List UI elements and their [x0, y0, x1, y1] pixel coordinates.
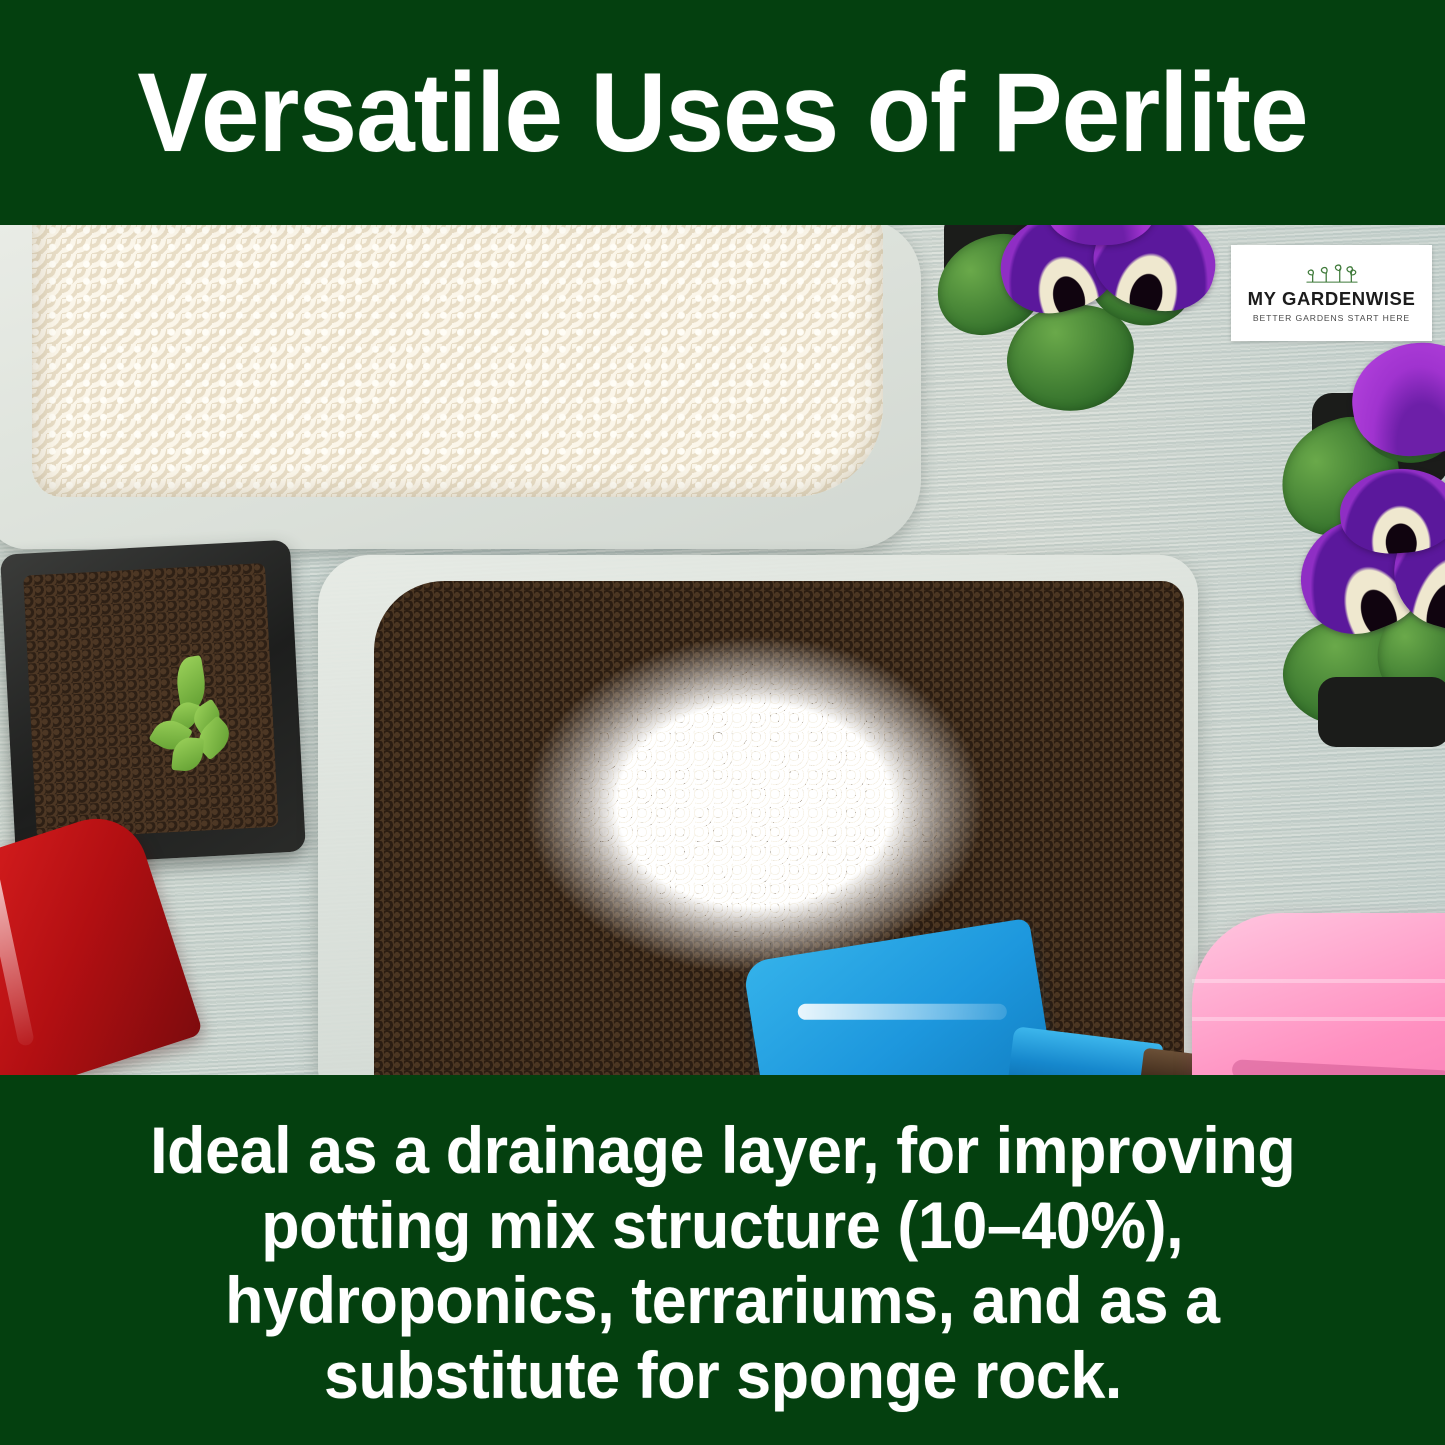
caption-line-2: potting mix structure (10–40%),	[262, 1188, 1184, 1263]
brand-name: MY GARDENWISE	[1248, 290, 1416, 309]
tray-soil	[23, 563, 278, 839]
pansy-flower	[1300, 475, 1445, 645]
header-band: Versatile Uses of Perlite	[0, 0, 1445, 225]
caption-band: Ideal as a drainage layer, for improving…	[0, 1075, 1445, 1445]
caption-line-4: substitute for sponge rock.	[324, 1338, 1122, 1413]
sprout-icon	[1303, 263, 1361, 287]
brand-tagline: BETTER GARDENS START HERE	[1253, 314, 1410, 323]
trowel-neck	[1007, 1026, 1164, 1075]
brand-logo-badge[interactable]: MY GARDENWISE BETTER GARDENS START HERE	[1231, 245, 1432, 341]
caption-line-1: Ideal as a drainage layer, for improving	[150, 1113, 1295, 1188]
page-title: Versatile Uses of Perlite	[128, 57, 1317, 169]
photo-panel: MY GARDENWISE BETTER GARDENS START HERE	[0, 225, 1445, 1075]
pansy-flower	[1000, 225, 1220, 323]
seedling-tray	[0, 540, 306, 867]
perlite-granules	[32, 225, 883, 497]
perlite-tub	[0, 225, 921, 549]
pink-glove	[1192, 913, 1445, 1075]
blue-trowel	[760, 925, 1230, 1075]
seedling-plant	[146, 654, 248, 779]
infographic-card: Versatile Uses of Perlite	[0, 0, 1445, 1445]
caption-line-3: hydroponics, terrariums, and as a	[225, 1263, 1219, 1338]
nursery-pot	[1318, 677, 1445, 747]
pansy-flower	[1352, 343, 1445, 453]
